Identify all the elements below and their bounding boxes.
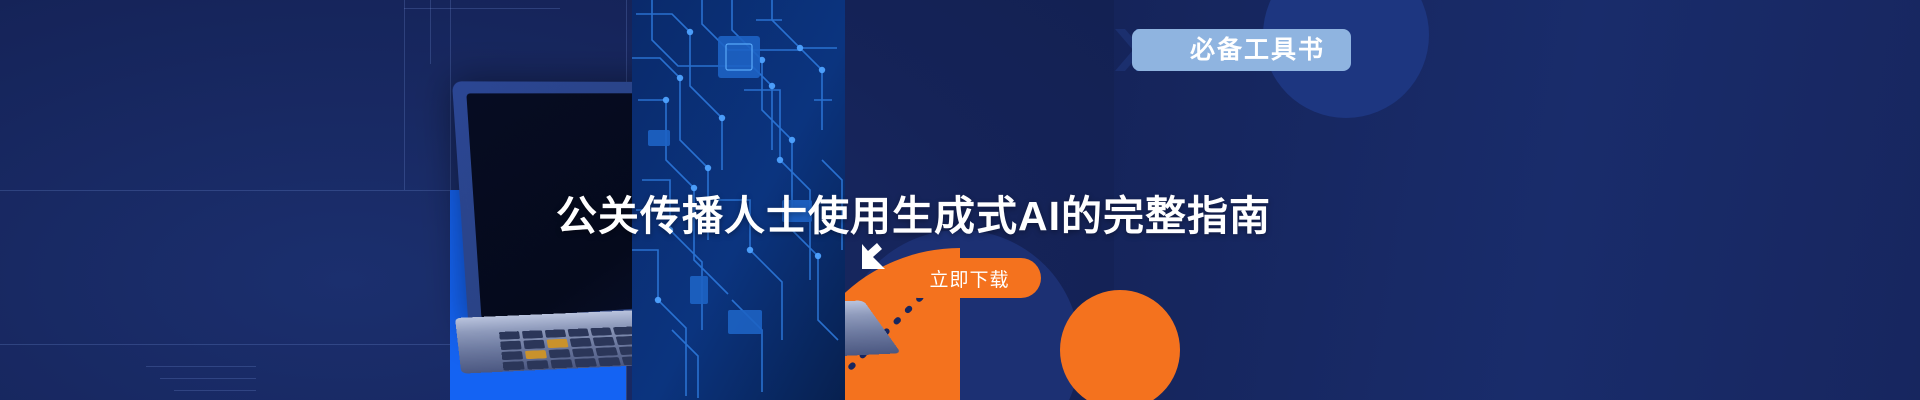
decor-orange-circle bbox=[1060, 290, 1180, 400]
grid-line-horizontal bbox=[174, 390, 256, 391]
badge-label: 必备工具书 bbox=[1190, 38, 1325, 63]
grid-line-horizontal bbox=[0, 344, 450, 345]
grid-line-vertical bbox=[430, 0, 431, 64]
badge: 必备工具书 bbox=[1113, 27, 1351, 73]
download-button[interactable]: 立即下载 bbox=[898, 258, 1041, 298]
promo-banner: 必备工具书 公关传播人士使用生成式AI的完整指南 立即下载 bbox=[0, 0, 1920, 400]
grid-line-vertical bbox=[404, 0, 405, 190]
grid-line-horizontal bbox=[404, 8, 560, 9]
page-title: 公关传播人士使用生成式AI的完整指南 bbox=[556, 182, 1271, 242]
badge-pill: 必备工具书 bbox=[1132, 29, 1351, 71]
arrow-cursor-icon bbox=[855, 238, 889, 272]
grid-line-horizontal bbox=[160, 378, 256, 379]
grid-line-horizontal bbox=[146, 366, 256, 367]
